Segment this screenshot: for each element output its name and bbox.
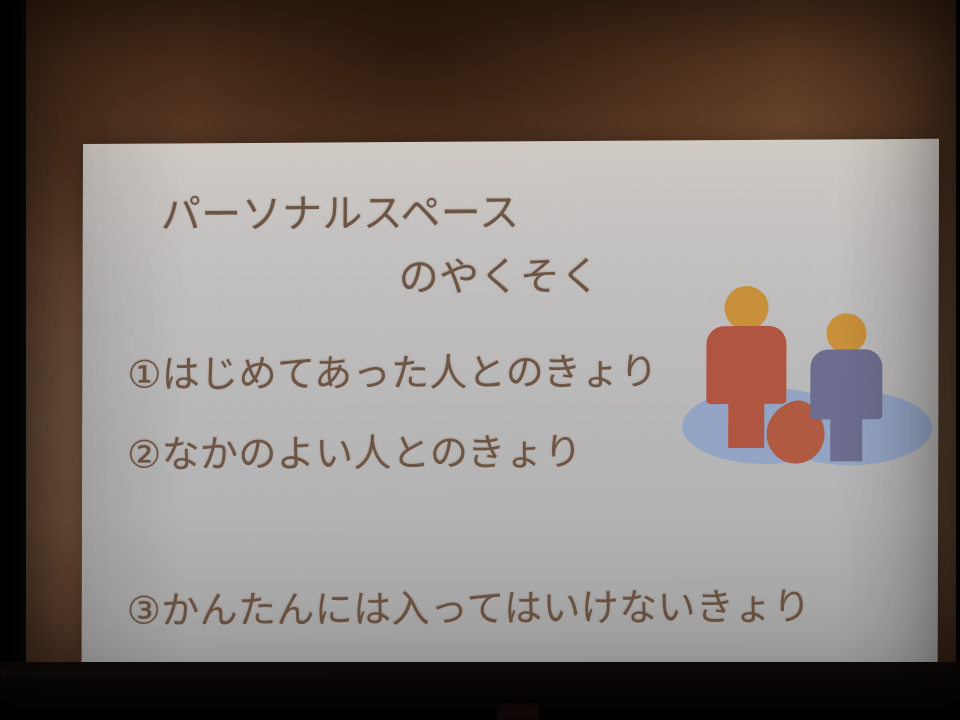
person-figure-blue — [806, 313, 886, 457]
person-head-icon — [725, 286, 769, 330]
person-legs-icon — [830, 413, 862, 461]
person-head-icon — [826, 313, 866, 353]
slide-title-line-2: のやくそく — [399, 257, 601, 298]
slide-list-item-3: ③かんたんには入ってはいけないきょり — [127, 588, 811, 630]
bezel-bottom-object — [497, 704, 539, 720]
bezel-bottom-highlight — [0, 671, 330, 676]
slide-title-line-1: パーソナルスペース — [161, 193, 520, 235]
person-figure-red — [700, 286, 792, 447]
person-body-icon — [706, 326, 786, 404]
slide-list-item-2: ②なかのよい人とのきょり — [127, 433, 582, 474]
person-legs-icon — [728, 398, 764, 448]
personal-space-illustration — [678, 279, 909, 480]
slide-list-item-1: ①はじめてあった人とのきょり — [127, 352, 658, 393]
screenshot-root: パーソナルスペース のやくそく ①はじめてあった人とのきょり ②なかのよい人との… — [0, 0, 960, 720]
projected-slide: パーソナルスペース のやくそく ①はじめてあった人とのきょり ②なかのよい人との… — [82, 139, 939, 674]
slide-content: パーソナルスペース のやくそく ①はじめてあった人とのきょり ②なかのよい人との… — [82, 139, 939, 674]
person-body-icon — [810, 349, 882, 419]
